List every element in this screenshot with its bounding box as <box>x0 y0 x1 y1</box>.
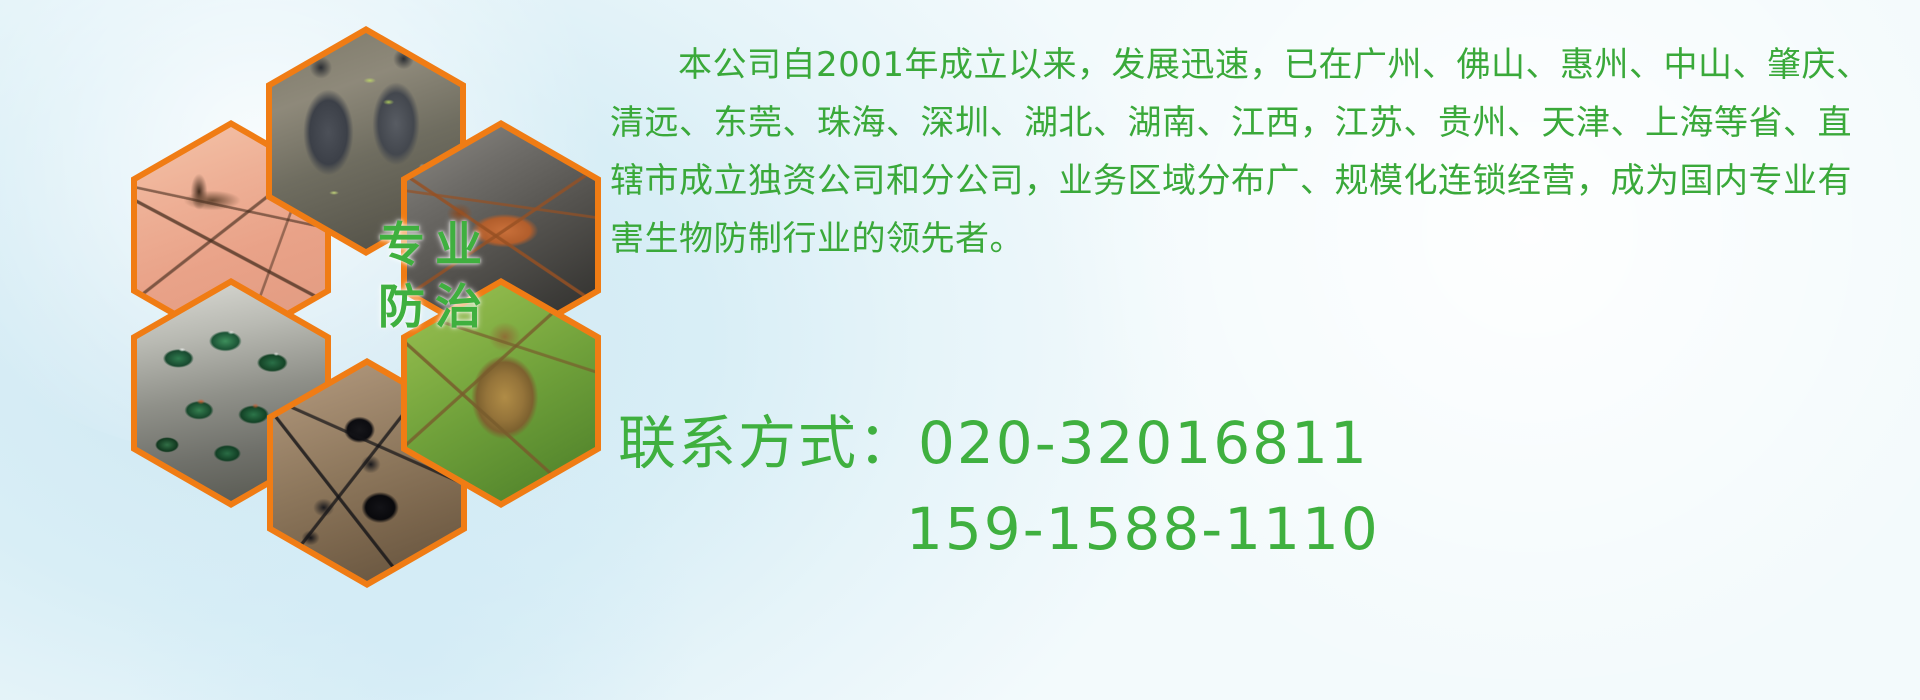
slogan-line-2: 防治 <box>360 277 500 339</box>
company-intro-paragraph: 本公司自2001年成立以来，发展迅速，已在广州、佛山、惠州、中山、肇庆、清远、东… <box>610 36 1880 268</box>
hexagon-photo-cluster: 专业 防治 <box>95 10 595 570</box>
contact-line-secondary[interactable]: 159-1588-1110 <box>618 486 1898 572</box>
contact-line-primary[interactable]: 联系方式：020-32016811 <box>618 400 1898 486</box>
company-intro: 本公司自2001年成立以来，发展迅速，已在广州、佛山、惠州、中山、肇庆、清远、东… <box>610 36 1880 268</box>
contact-block: 联系方式：020-32016811 159-1588-1110 <box>618 400 1898 572</box>
slogan: 专业 防治 <box>360 215 500 339</box>
promo-banner: 专业 防治 本公司自2001年成立以来，发展迅速，已在广州、佛山、惠州、中山、肇… <box>0 0 1920 700</box>
slogan-line-1: 专业 <box>360 215 500 277</box>
